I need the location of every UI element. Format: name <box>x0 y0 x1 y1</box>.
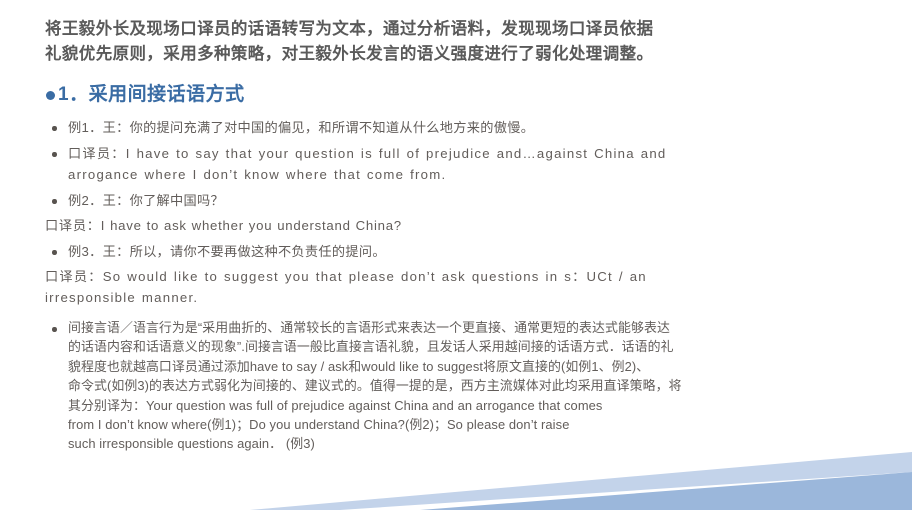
bullet-dot-icon <box>52 199 57 204</box>
list-item-example-3-source: 例3．王：所以，请你不要再做这种不负责任的提问。 <box>45 241 875 262</box>
example-3-interpretation-line-1: 口译员：So would like to suggest you that pl… <box>45 266 875 287</box>
bullet-dot-icon <box>46 91 55 100</box>
analysis-line-2: 的话语内容和话语意义的现象”.间接言语一般比直接言语礼貌，且发话人采用越间接的话… <box>68 337 875 356</box>
list-item-analysis-paragraph: 间接言语／语言行为是“采用曲折的、通常较长的言语形式来表达一个更直接、通常更短的… <box>45 318 875 454</box>
list-item-example-1-interpretation: 口译员：I have to say that your question is … <box>45 143 875 185</box>
list-item-example-1-source: 例1．王：你的提问充满了对中国的偏见，和所谓不知道从什么地方来的傲慢。 <box>45 117 875 138</box>
example-1-source-line-1: 例1．王：你的提问充满了对中国的偏见，和所谓不知道从什么地方来的傲慢。 <box>68 117 875 138</box>
section-heading-label: 1．采用间接话语方式 <box>58 82 245 108</box>
example-1-interpretation-line-1: 口译员：I have to say that your question is … <box>68 143 875 164</box>
slide-canvas: 将王毅外长及现场口译员的话语转写为文本，通过分析语料，发现现场口译员依据 礼貌优… <box>0 0 912 510</box>
title-line-2: 礼貌优先原则，采用多种策略，对王毅外长发言的语义强度进行了弱化处理调整。 <box>45 42 873 67</box>
analysis-line-7: such irresponsible questions again． (例3) <box>68 434 875 453</box>
example-3-source-line-1: 例3．王：所以，请你不要再做这种不负责任的提问。 <box>68 241 875 262</box>
bullet-dot-icon <box>52 250 57 255</box>
slide-title: 将王毅外长及现场口译员的话语转写为文本，通过分析语料，发现现场口译员依据 礼貌优… <box>45 17 873 67</box>
list-item-example-2-source: 例2．王：你了解中国吗？ <box>45 190 875 211</box>
analysis-line-5: 其分别译为：Your question was full of prejudic… <box>68 396 875 415</box>
analysis-line-3: 貌程度也就越高口译员通过添加have to say / ask和would li… <box>68 357 875 376</box>
section-heading: 1．采用间接话语方式 <box>46 82 245 108</box>
title-line-1: 将王毅外长及现场口译员的话语转写为文本，通过分析语料，发现现场口译员依据 <box>45 17 873 42</box>
bullet-dot-icon <box>52 152 57 157</box>
bullet-dot-icon <box>52 126 57 131</box>
content-list: 例1．王：你的提问充满了对中国的偏见，和所谓不知道从什么地方来的傲慢。 口译员：… <box>45 117 875 457</box>
dark-blue-diagonal-band <box>420 472 912 510</box>
list-item-example-3-interpretation: 口译员：So would like to suggest you that pl… <box>45 266 875 308</box>
example-3-interpretation-line-2: irresponsible manner. <box>45 287 875 308</box>
light-blue-diagonal-band <box>250 452 912 510</box>
example-1-interpretation-line-2: arrogance where I don’t know where that … <box>68 164 875 185</box>
example-2-source-line-1: 例2．王：你了解中国吗？ <box>68 190 875 211</box>
analysis-line-4: 命令式(如例3)的表达方式弱化为间接的、建议式的。值得一提的是，西方主流媒体对此… <box>68 376 875 395</box>
list-item-example-2-interpretation: 口译员：I have to ask whether you understand… <box>45 215 875 236</box>
analysis-line-1: 间接言语／语言行为是“采用曲折的、通常较长的言语形式来表达一个更直接、通常更短的… <box>68 318 875 337</box>
bullet-dot-icon <box>52 327 57 332</box>
example-2-interpretation-line-1: 口译员：I have to ask whether you understand… <box>45 215 875 236</box>
analysis-line-6: from I don’t know where(例1)；Do you under… <box>68 415 875 434</box>
